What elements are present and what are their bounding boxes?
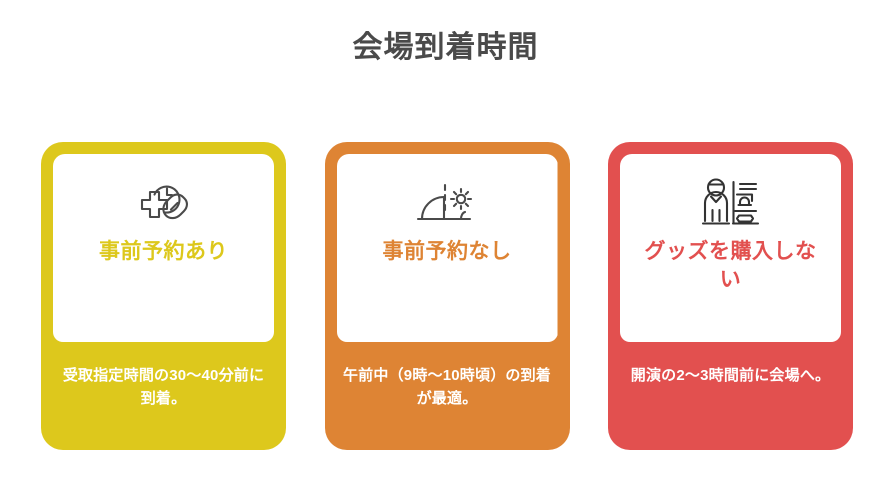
card-title: 事前予約あり [74,238,254,266]
page-title: 会場到着時間 [0,28,891,67]
card-footer: 午前中（9時〜10時頃）の到着が最適。 [325,342,570,450]
infographic-page: 会場到着時間 事前予約あり [0,0,891,481]
card-footer-text: 午前中（9時〜10時頃）の到着が最適。 [341,364,554,411]
card-advance-reservation-yes[interactable]: 事前予約あり 受取指定時間の30〜40分前に到着。 [41,142,286,450]
emergency-call-clock-icon [128,176,200,232]
card-row: 事前予約あり 受取指定時間の30〜40分前に到着。 [41,142,853,450]
sunrise-icon [411,176,483,232]
card-panel: 事前予約あり [53,154,274,342]
card-title: 事前予約なし [357,238,537,266]
card-footer: 受取指定時間の30〜40分前に到着。 [41,342,286,450]
card-footer-text: 開演の2〜3時間前に会場へ。 [631,364,831,387]
card-advance-reservation-no[interactable]: 事前予約なし 午前中（9時〜10時頃）の到着が最適。 [325,142,570,450]
person-at-merchandise-shelf-icon [695,176,767,232]
card-footer-text: 受取指定時間の30〜40分前に到着。 [57,364,270,411]
card-title: グッズを購入しない [641,238,821,295]
card-panel: 事前予約なし [337,154,558,342]
card-footer: 開演の2〜3時間前に会場へ。 [608,342,853,450]
card-panel: グッズを購入しない [620,154,841,342]
card-no-goods-purchase[interactable]: グッズを購入しない 開演の2〜3時間前に会場へ。 [608,142,853,450]
